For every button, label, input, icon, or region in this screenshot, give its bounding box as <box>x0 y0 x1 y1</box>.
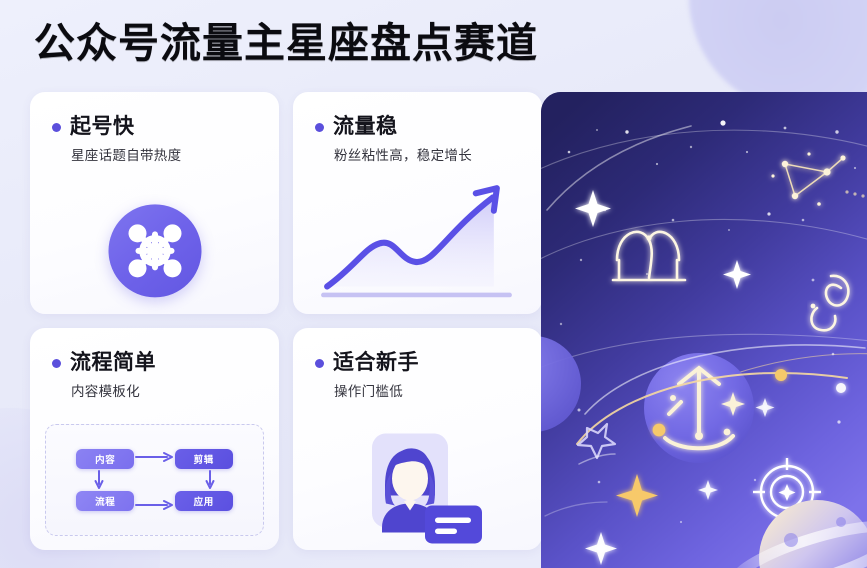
flow-diagram: 内容 剪辑 流程 应用 <box>45 424 264 536</box>
flow-node-grid: 内容 剪辑 流程 应用 <box>46 425 263 535</box>
card-2-artwork <box>293 184 542 314</box>
bullet-dot-icon <box>52 123 61 132</box>
card-3-header: 流程简单 内容模板化 <box>30 328 279 401</box>
card-4-header: 适合新手 操作门槛低 <box>293 328 542 401</box>
card-1-subtitle: 星座话题自带热度 <box>71 147 279 165</box>
poster-root: 公众号流量主星座盘点赛道 起号快 星座话题自带热度 <box>0 0 867 568</box>
feature-card-4[interactable]: 适合新手 操作门槛低 <box>293 328 542 550</box>
page-title: 公众号流量主星座盘点赛道 <box>34 17 538 69</box>
flow-arrow-right-bottom <box>133 499 177 511</box>
flow-arrow-down-right <box>204 469 215 491</box>
card-1-artwork <box>30 184 279 314</box>
card-2-header: 流量稳 粉丝粘性高，稳定增长 <box>293 92 542 165</box>
card-2-title-row: 流量稳 <box>315 114 542 140</box>
card-1-header: 起号快 星座话题自带热度 <box>30 92 279 165</box>
flow-node-4[interactable]: 应用 <box>175 491 233 511</box>
card-4-title-row: 适合新手 <box>315 350 542 376</box>
bullet-dot-icon <box>52 359 61 368</box>
zodiac-space-illustration: 星空星座插画 <box>541 92 867 568</box>
card-1-title-row: 起号快 <box>52 114 279 140</box>
bullet-dot-icon <box>315 359 324 368</box>
bullet-dot-icon <box>315 123 324 132</box>
card-1-title: 起号快 <box>70 114 135 140</box>
flow-node-2[interactable]: 剪辑 <box>175 449 233 469</box>
flow-arrow-down-left <box>94 469 105 491</box>
card-3-title-row: 流程简单 <box>52 350 279 376</box>
card-4-artwork <box>293 420 542 550</box>
node-network-circle-icon <box>108 204 201 297</box>
flow-node-3[interactable]: 流程 <box>76 491 134 511</box>
growth-arrow-chart <box>307 180 530 308</box>
person-with-message-card <box>338 433 498 545</box>
flow-node-1[interactable]: 内容 <box>76 449 134 469</box>
card-4-subtitle: 操作门槛低 <box>334 383 542 401</box>
card-3-subtitle: 内容模板化 <box>71 383 279 401</box>
feature-card-2[interactable]: 流量稳 粉丝粘性高，稳定增长 <box>293 92 542 314</box>
feature-card-3[interactable]: 流程简单 内容模板化 内容 剪辑 流程 应用 <box>30 328 279 550</box>
card-2-title: 流量稳 <box>333 114 398 140</box>
card-4-title: 适合新手 <box>333 350 419 376</box>
card-3-artwork: 内容 剪辑 流程 应用 <box>30 420 279 550</box>
feature-card-1[interactable]: 起号快 星座话题自带热度 <box>30 92 279 314</box>
flow-arrow-right-top <box>133 451 177 463</box>
feature-card-grid: 起号快 星座话题自带热度 <box>30 92 530 552</box>
card-2-subtitle: 粉丝粘性高，稳定增长 <box>334 147 542 165</box>
card-3-title: 流程简单 <box>70 350 156 376</box>
